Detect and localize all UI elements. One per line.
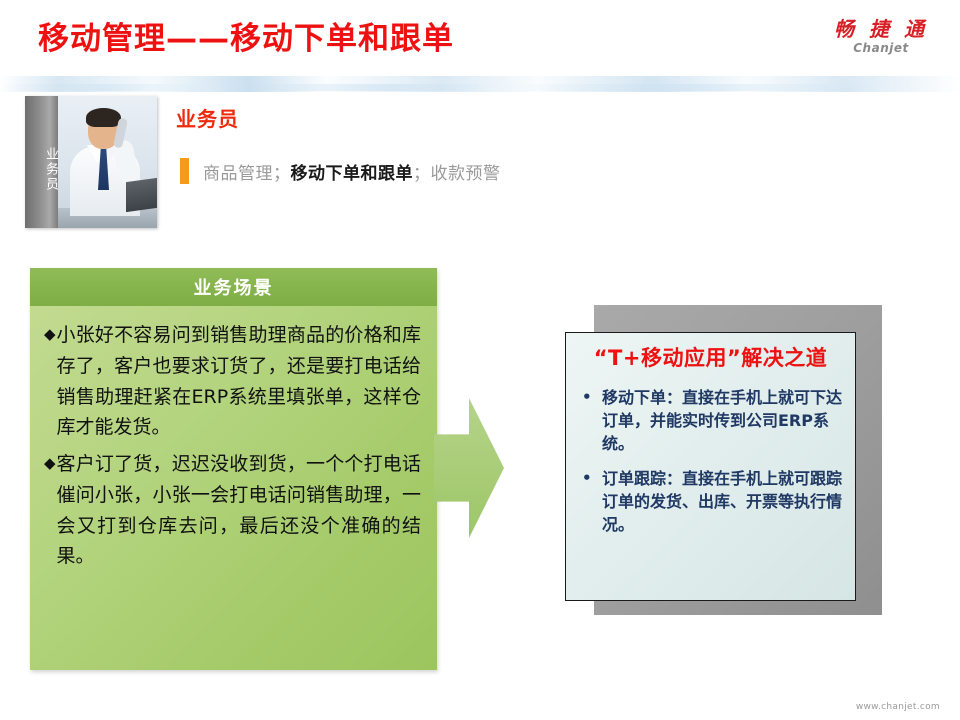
cloud-divider-band-secondary [0, 84, 960, 91]
scenario-panel-header: 业务场景 [30, 268, 437, 306]
persona-feature-list: 商品管理；移动下单和跟单；收款预警 [180, 158, 501, 184]
dot-bullet-icon: • [582, 387, 602, 455]
solution-panel-title: “T+移动应用”解决之道 [576, 345, 845, 371]
dot-bullet-icon: • [582, 468, 602, 536]
salesperson-photo [58, 96, 157, 228]
feature-prefix: 商品管理； [203, 164, 291, 184]
solution-panel: “T+移动应用”解决之道 • 移动下单：直接在手机上就可下达订单，并能实时传到公… [565, 332, 856, 601]
feature-suffix: ；收款预警 [413, 164, 501, 184]
right-arrow-icon [434, 398, 504, 538]
persona-feature-text: 商品管理；移动下单和跟单；收款预警 [203, 159, 501, 184]
scenario-panel: 业务场景 ◆ 小张好不容易问到销售助理商品的价格和库存了，客户也要求订货了，还是… [30, 268, 437, 670]
diamond-bullet-icon: ◆ [44, 320, 56, 443]
solution-item-text: 移动下单：直接在手机上就可下达订单，并能实时传到公司ERP系统。 [602, 387, 845, 455]
persona-vertical-label: 业务员 [25, 96, 58, 228]
list-item: • 订单跟踪：直接在手机上就可跟踪订单的发货、出库、开票等执行情况。 [576, 468, 845, 536]
person-hair-icon [86, 108, 121, 127]
scenario-panel-body: ◆ 小张好不容易问到销售助理商品的价格和库存了，客户也要求订货了，还是要打电话给… [30, 306, 437, 670]
persona-role-title: 业务员 [176, 103, 239, 132]
diamond-bullet-icon: ◆ [44, 449, 56, 572]
logo-latin-text: Chanjet [820, 41, 942, 55]
scenario-item-text: 客户订了货，迟迟没收到货，一个个打电话催问小张，小张一会打电话问销售助理，一会又… [57, 449, 421, 572]
scenario-item-text: 小张好不容易问到销售助理商品的价格和库存了，客户也要求订货了，还是要打电话给销售… [57, 320, 421, 443]
solution-item-text: 订单跟踪：直接在手机上就可跟踪订单的发货、出库、开票等执行情况。 [602, 468, 845, 536]
laptop-icon [126, 178, 157, 212]
list-item: ◆ 客户订了货，迟迟没收到货，一个个打电话催问小张，小张一会打电话问销售助理，一… [44, 449, 421, 572]
list-item: ◆ 小张好不容易问到销售助理商品的价格和库存了，客户也要求订货了，还是要打电话给… [44, 320, 421, 443]
chanjet-logo: 畅 捷 通 Chanjet [820, 18, 942, 55]
orange-accent-bar-icon [180, 158, 189, 184]
persona-photo-card: 业务员 [25, 96, 157, 228]
logo-chinese-text: 畅 捷 通 [820, 18, 942, 40]
footer-website-url: www.chanjet.com [856, 702, 940, 712]
page-title: 移动管理——移动下单和跟单 [38, 22, 454, 58]
list-item: • 移动下单：直接在手机上就可下达订单，并能实时传到公司ERP系统。 [576, 387, 845, 455]
slide-canvas: 移动管理——移动下单和跟单 畅 捷 通 Chanjet 业务员 业务员 商品管理… [0, 0, 960, 720]
feature-highlight: 移动下单和跟单 [291, 164, 414, 184]
